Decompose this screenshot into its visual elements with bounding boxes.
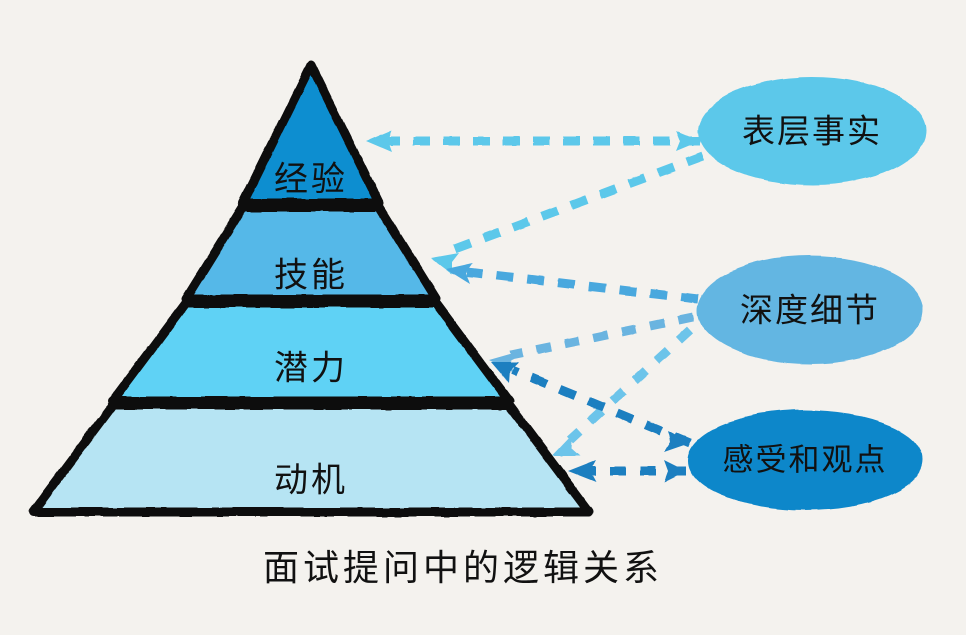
bubble-deep-details[interactable]: 深度细节: [697, 256, 923, 364]
arrow-deep-details-to-potential: [489, 317, 693, 373]
diagram-caption: 面试提问中的逻辑关系: [263, 548, 663, 589]
arrow-surface-facts-to-skills: [431, 156, 703, 274]
bubble-feelings-opinions-label: 感受和观点: [723, 443, 888, 479]
pyramid-tier-1-label: 经验: [274, 160, 348, 200]
bubble-feelings-opinions[interactable]: 感受和观点: [687, 410, 923, 510]
bubble-group: 表层事实 深度细节 感受和观点: [687, 77, 926, 510]
arrow-deep-details-to-skills: [446, 263, 698, 299]
bubble-deep-details-label: 深度细节: [740, 291, 880, 330]
pyramid-diagram: 经验 技能 潜力 动机: [0, 0, 966, 635]
pyramid-tier-4-label: 动机: [274, 461, 348, 501]
bubble-surface-facts[interactable]: 表层事实: [698, 77, 926, 185]
arrow-surface-facts-to-experience: [366, 130, 700, 152]
arrow-feelings-to-motivation: [568, 460, 686, 482]
pyramid-tier-3-label: 潜力: [274, 349, 348, 389]
bubble-surface-facts-label: 表层事实: [742, 112, 882, 151]
diagram-canvas: 经验 技能 潜力 动机: [0, 0, 966, 635]
pyramid-tier-2-label: 技能: [274, 256, 348, 296]
